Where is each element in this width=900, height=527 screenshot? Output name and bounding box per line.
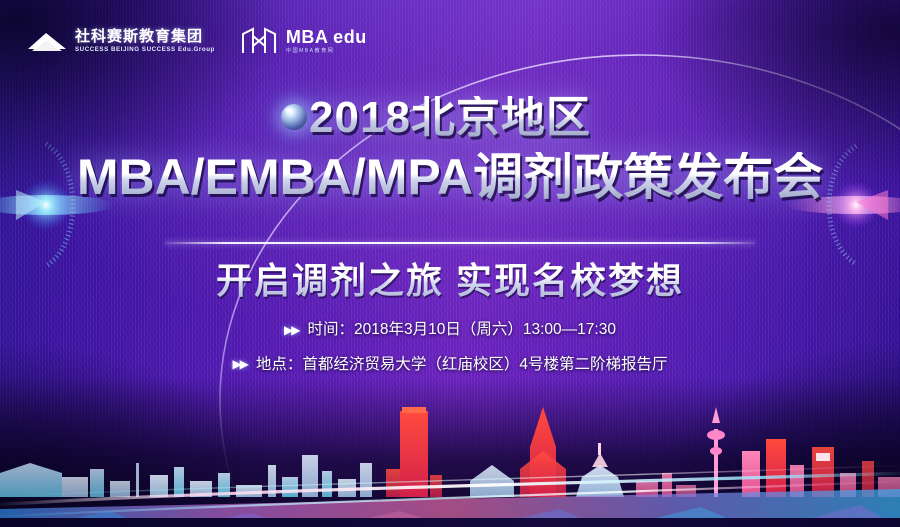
logo-success-en: SUCCESS BEIJING SUCCESS Edu.Group (75, 47, 215, 53)
city-skyline-silhouette (0, 377, 900, 527)
title-divider (165, 242, 755, 244)
info-row-time: ▶▶ 时间：2018年3月10日（周六）13:00—17:30 (0, 322, 900, 338)
double-arrow-icon: ▶▶ (284, 324, 298, 336)
title-line-2: MBA/EMBA/MPA调剂政策发布会 (77, 152, 823, 202)
slogan-text: 开启调剂之旅 实现名校梦想 (0, 252, 900, 304)
event-banner: 社科赛斯教育集团 SUCCESS BEIJING SUCCESS Edu.Gro… (0, 0, 900, 527)
logo-mba-edu: MBA edu 中国MBA教育网 (239, 26, 367, 56)
logo-mba-en: 中国MBA教育网 (286, 49, 367, 54)
info-row-location: ▶▶ 地点：首都经济贸易大学（红庙校区）4号楼第二阶梯报告厅 (0, 357, 900, 373)
logo-success-edu-group: 社科赛斯教育集团 SUCCESS BEIJING SUCCESS Edu.Gro… (26, 29, 215, 53)
event-location-text: 地点：首都经济贸易大学（红庙校区）4号楼第二阶梯报告厅 (256, 357, 668, 373)
logo-bar: 社科赛斯教育集团 SUCCESS BEIJING SUCCESS Edu.Gro… (26, 26, 367, 56)
logo-mba-cn: MBA edu (286, 28, 367, 46)
mountain-logo-icon (26, 29, 68, 53)
mba-edu-logo-icon (239, 26, 279, 56)
double-arrow-icon: ▶▶ (232, 358, 246, 370)
event-info-block: ▶▶ 时间：2018年3月10日（周六）13:00—17:30 ▶▶ 地点：首都… (0, 322, 900, 391)
title-block: 2018北京地区 MBA/EMBA/MPA调剂政策发布会 (0, 96, 900, 202)
logo-success-cn: 社科赛斯教育集团 (75, 29, 215, 44)
title-line-1: 2018北京地区 (309, 96, 591, 140)
bottom-bar (0, 518, 900, 527)
event-time-text: 时间：2018年3月10日（周六）13:00—17:30 (308, 322, 616, 338)
